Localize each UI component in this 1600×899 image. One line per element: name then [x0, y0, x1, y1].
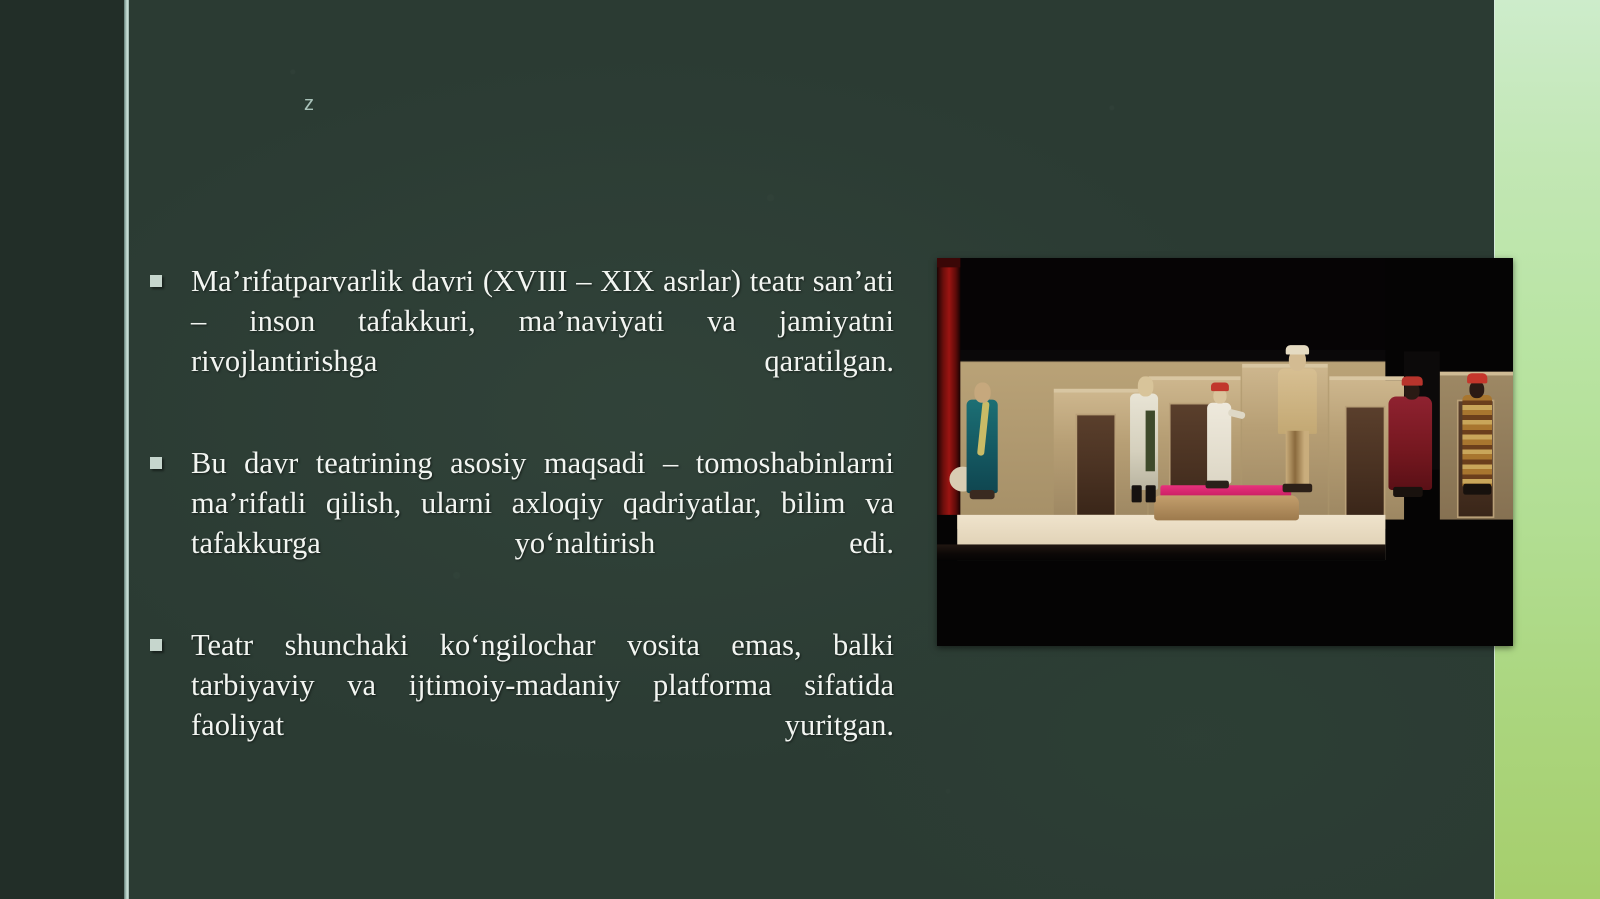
actor-redcap-feet — [1206, 481, 1229, 489]
list-item: Teatr shunchaki ko‘ngilochar vosita emas… — [146, 626, 894, 786]
list-item-text: Ma’rifatparvarlik davri (XVIII – XIX asr… — [191, 262, 894, 422]
presentation-slide: z Ma’rifatparvarlik davri (XVIII – XIX a… — [0, 0, 1600, 899]
actor-white-boot-right — [1146, 485, 1156, 502]
actor-teal-head — [974, 383, 990, 403]
list-item-text: Teatr shunchaki ko‘ngilochar vosita emas… — [191, 626, 894, 786]
square-bullet-icon — [150, 639, 162, 651]
bullet-list: Ma’rifatparvarlik davri (XVIII – XIX asr… — [146, 262, 894, 785]
theatre-stage-photograph — [937, 258, 1513, 646]
actor-maroon-hat — [1402, 376, 1423, 385]
list-item-text: Bu davr teatrining asosiy maqsadi – tomo… — [191, 444, 894, 604]
left-vertical-rule — [124, 0, 129, 899]
actor-patterned-hat — [1467, 373, 1487, 383]
stage-curtain-top — [937, 258, 960, 267]
stage-front-lip — [937, 544, 1385, 560]
actor-patterned-feet — [1463, 484, 1491, 495]
square-bullet-icon — [150, 457, 162, 469]
actor-center-shoes — [1283, 484, 1313, 493]
actor-maroon-feet — [1393, 487, 1423, 497]
actor-patterned-head — [1469, 381, 1484, 398]
door-left — [1076, 414, 1116, 517]
actor-maroon-robe — [1388, 397, 1432, 490]
actor-white-boot-left — [1132, 485, 1142, 502]
actor-center-legs — [1286, 431, 1309, 487]
actor-center-hat — [1286, 345, 1309, 354]
actor-center-coat — [1278, 369, 1317, 434]
placeholder-glyph: z — [304, 93, 315, 116]
actor-white-head — [1138, 376, 1154, 396]
list-item: Bu davr teatrining asosiy maqsadi – tomo… — [146, 444, 894, 604]
actor-white-belt — [1146, 411, 1155, 472]
actor-patterned-robe — [1462, 395, 1492, 487]
actor-teal-feet — [970, 490, 995, 499]
actor-redcap-hat — [1211, 383, 1229, 392]
list-item: Ma’rifatparvarlik davri (XVIII – XIX asr… — [146, 262, 894, 422]
photo-contents — [937, 258, 1513, 646]
square-bullet-icon — [150, 275, 162, 287]
door-mid-right — [1345, 406, 1385, 518]
left-margin-strip — [0, 0, 124, 899]
dais-base — [1154, 495, 1299, 520]
